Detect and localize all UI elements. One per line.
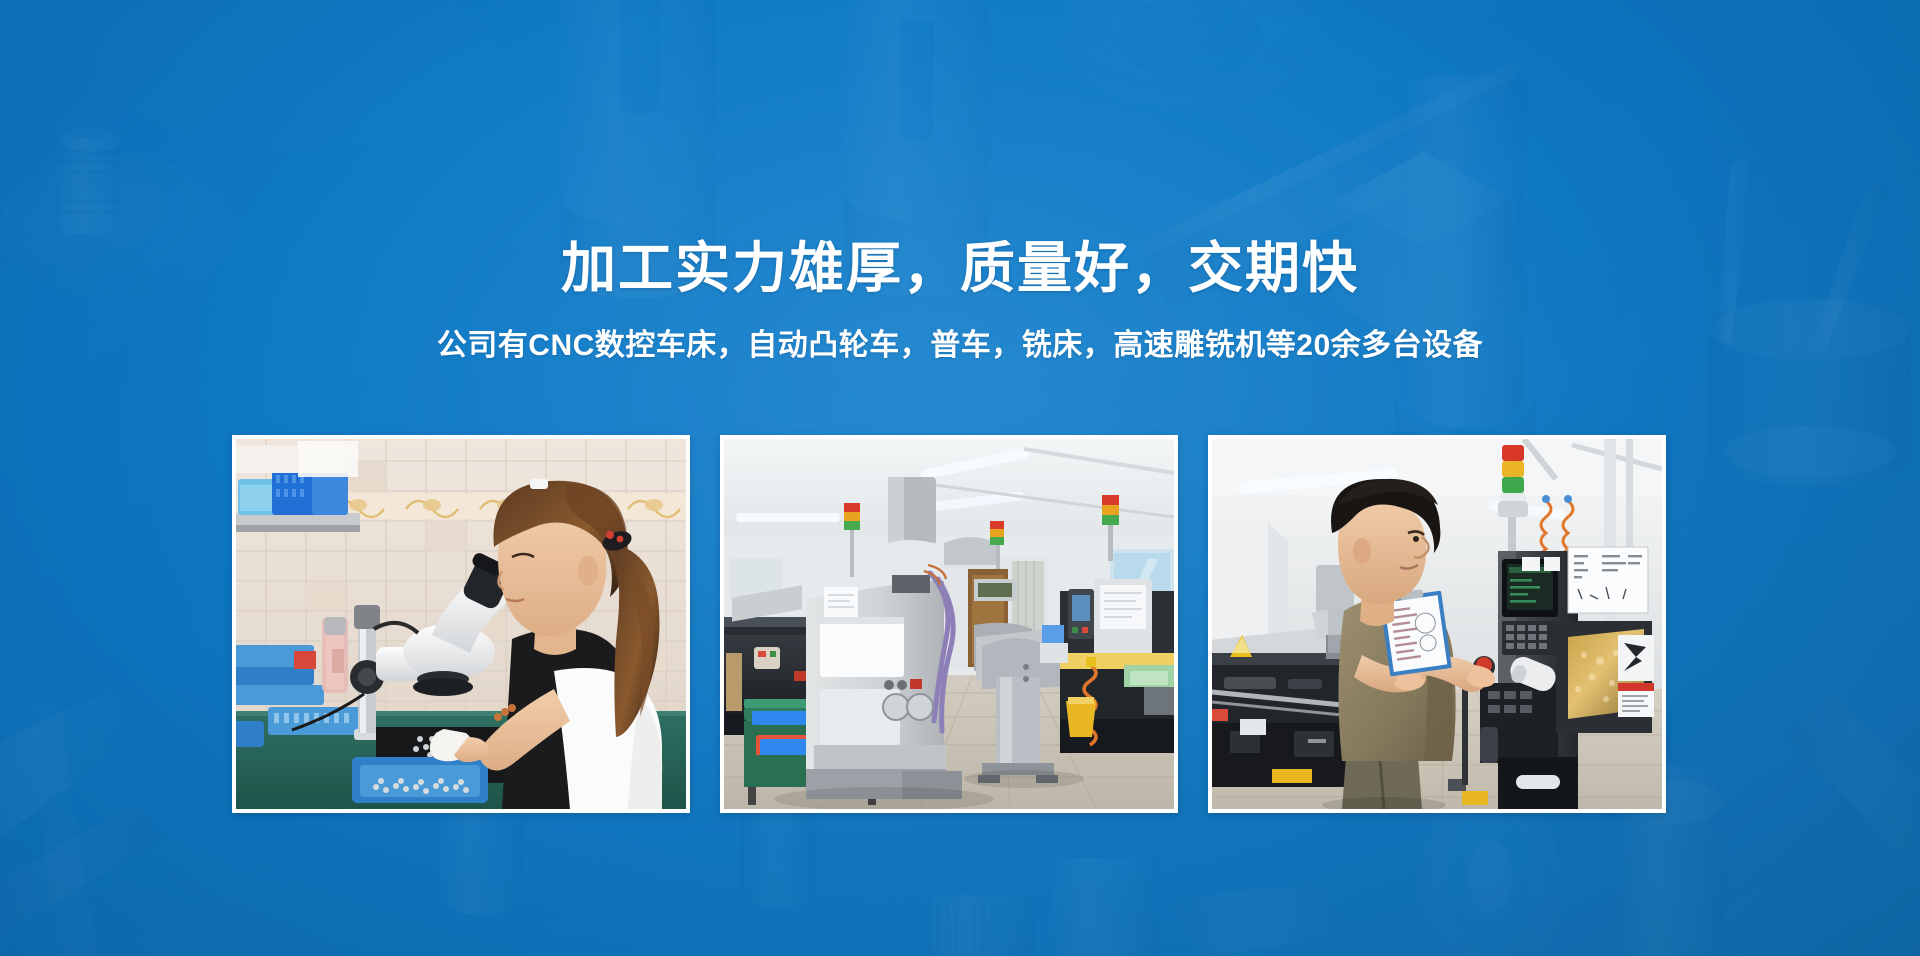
banner-text-block: 加工实力雄厚，质量好，交期快 公司有CNC数控车床，自动凸轮车，普车，铣床，高速… [0,0,1920,364]
banner-headline: 加工实力雄厚，质量好，交期快 [0,238,1920,300]
photo-cnc-machining-workshop[interactable] [720,435,1178,813]
photo-2-image [724,439,1174,809]
photo-3-image [1212,439,1662,809]
equipment-capability-banner: 加工实力雄厚，质量好，交期快 公司有CNC数控车床，自动凸轮车，普车，铣床，高速… [0,0,1920,956]
wm-threaded-nipple [925,858,1355,956]
equipment-photo-row [232,435,1666,815]
banner-subheadline: 公司有CNC数控车床，自动凸轮车，普车，铣床，高速雕铣机等20余多台设备 [0,328,1920,364]
wm-angled-tool [1784,690,1920,858]
wm-tapered-shafts [0,690,162,956]
photo-cnc-operator-control-panel[interactable] [1208,435,1666,813]
photo-1-image [236,439,686,809]
photo-quality-inspection-microscope[interactable] [232,435,690,813]
